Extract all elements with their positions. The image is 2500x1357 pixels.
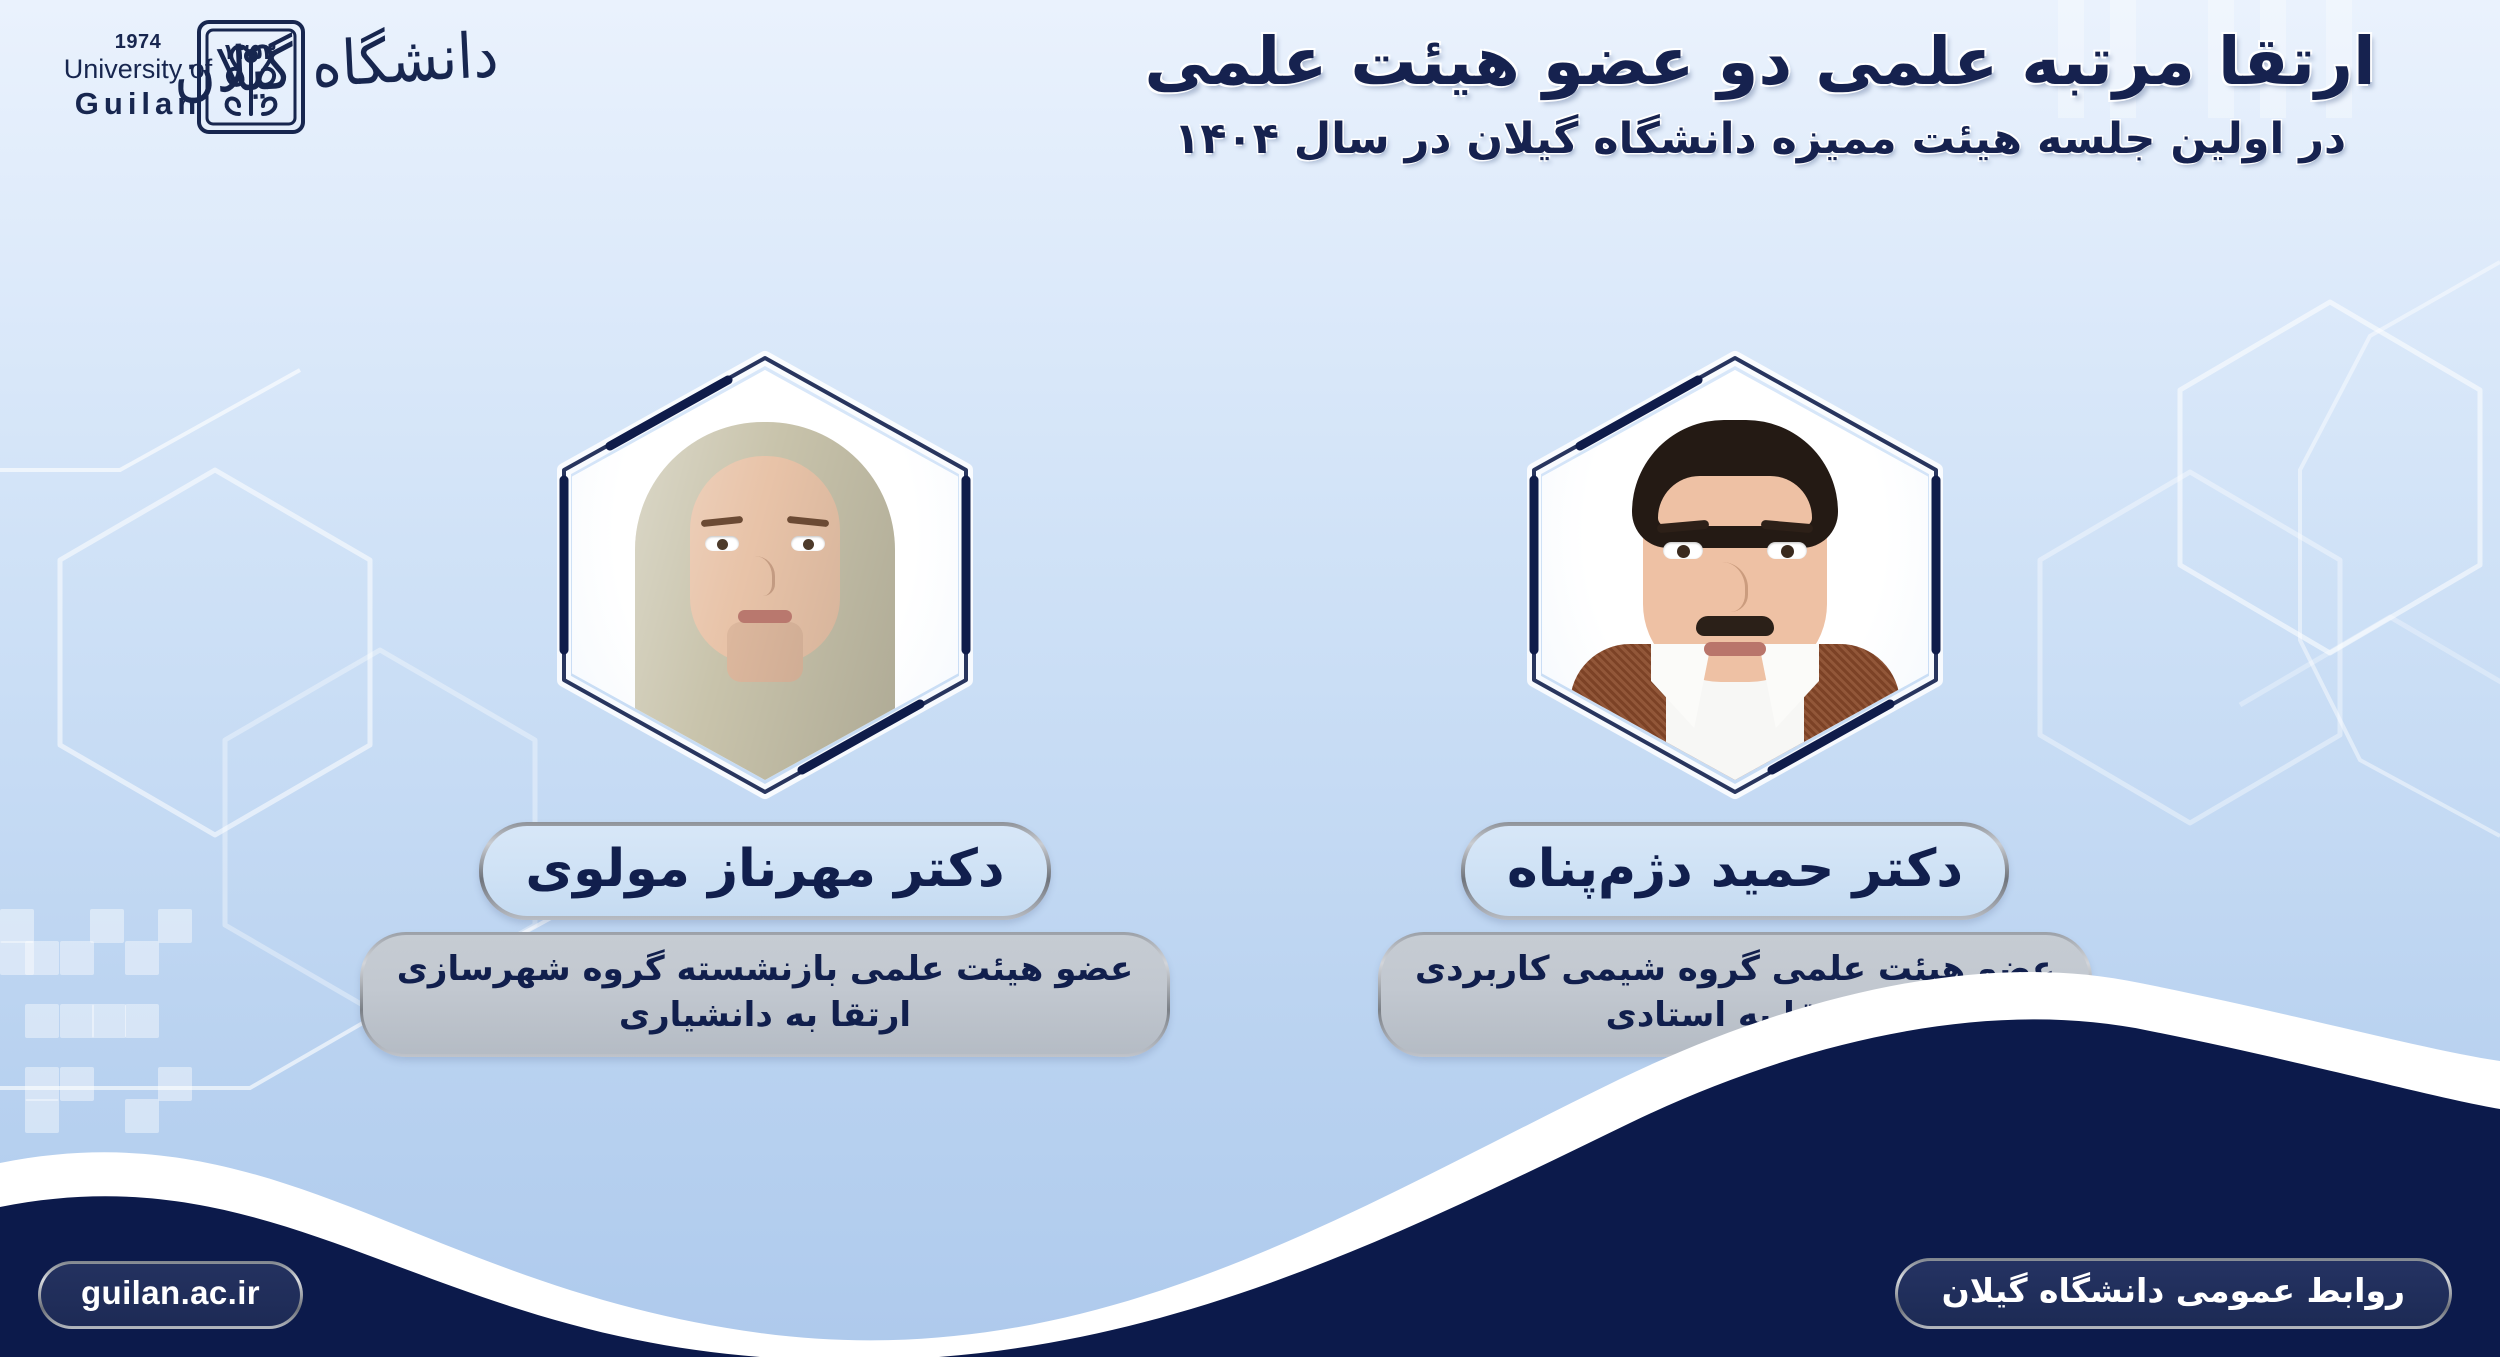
person-name-plate: دکتر مهرناز مولوی	[479, 822, 1050, 920]
website-url: guilan.ac.ir	[81, 1274, 260, 1311]
person-name: دکتر مهرناز مولوی	[525, 839, 1004, 899]
page-title: ارتقا مرتبه علمی دو عضو هیئت علمی	[1080, 22, 2440, 103]
person-name-plate: دکتر حمید دژم‌پناه	[1461, 822, 2009, 920]
hexagon-photo-frame	[1520, 350, 1950, 800]
logo-persian-text: ۱۳۵۳ دانشگاه گیلان	[216, 16, 496, 132]
hexagon-photo-frame	[550, 350, 980, 800]
university-logo: 1974 University of Guilan ۱۳۵۳ دانشگاه گ	[30, 6, 500, 138]
person-card-mehrnaz-molavi: دکتر مهرناز مولوی عضو هیئت علمی بازنشسته…	[445, 350, 1085, 1057]
logo-university-name-fa: دانشگاه گیلان	[171, 18, 499, 109]
page-subtitle: در اولین جلسه هیئت ممیزه دانشگاه گیلان د…	[1080, 113, 2440, 167]
person-card-hamid-dezhampanah: دکتر حمید دژم‌پناه عضو هیئت علمی گروه شی…	[1415, 350, 2055, 1057]
website-chip[interactable]: guilan.ac.ir	[38, 1261, 303, 1329]
person-name: دکتر حمید دژم‌پناه	[1507, 839, 1963, 899]
public-relations-chip[interactable]: روابط عمومی دانشگاه گیلان	[1895, 1258, 2452, 1329]
people-row: دکتر مهرناز مولوی عضو هیئت علمی بازنشسته…	[0, 350, 2500, 1057]
public-relations-label: روابط عمومی دانشگاه گیلان	[1942, 1271, 2405, 1310]
poster-canvas: 1974 University of Guilan ۱۳۵۳ دانشگاه گ	[0, 0, 2500, 1357]
headline-block: ارتقا مرتبه علمی دو عضو هیئت علمی در اول…	[1080, 22, 2440, 166]
